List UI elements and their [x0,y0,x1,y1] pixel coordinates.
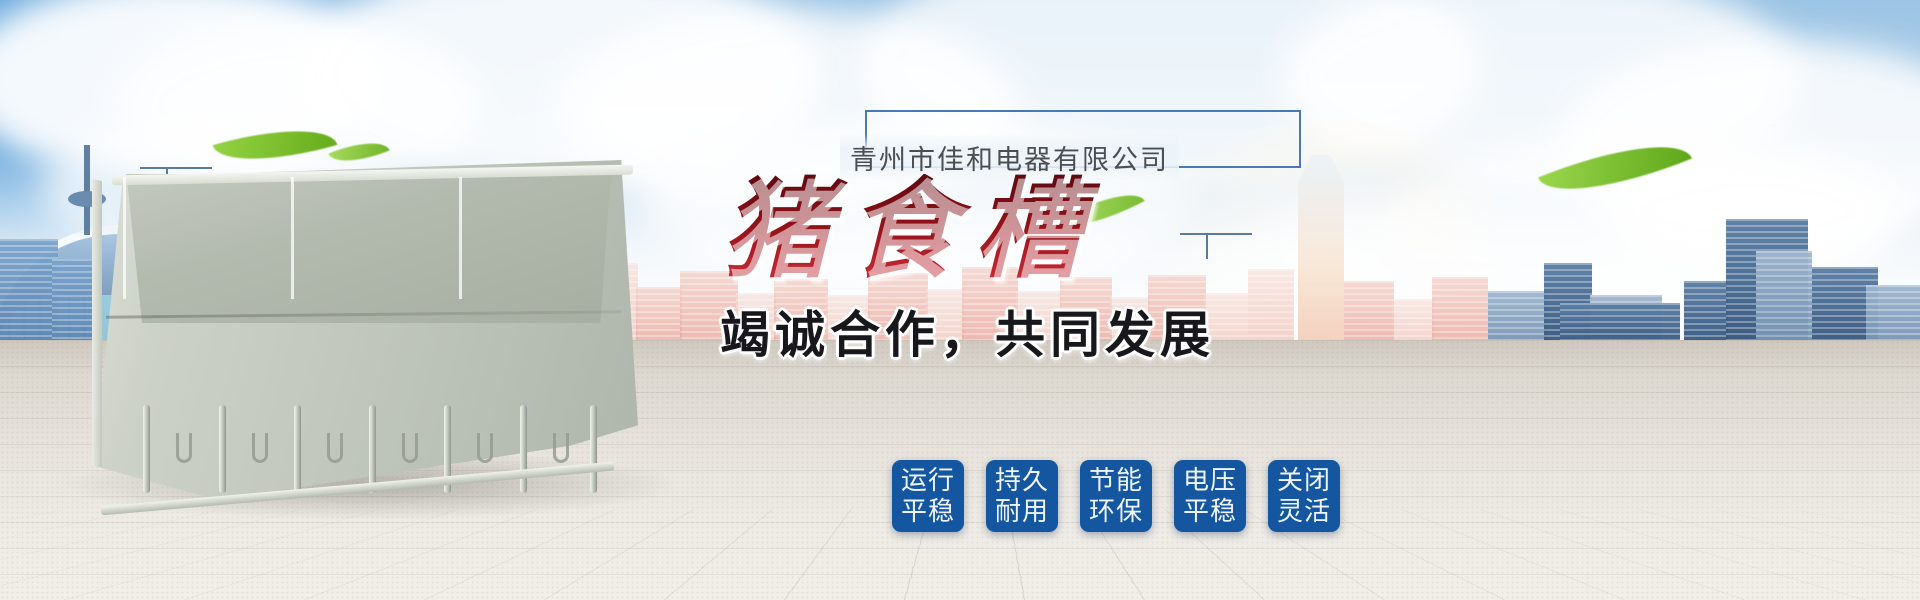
badge-line-2: 耐用 [995,496,1049,527]
feed-loop [252,433,268,463]
badge-line-1: 运行 [901,465,955,496]
feature-badge-1[interactable]: 运行 平稳 [892,460,964,532]
divider-bar [294,405,301,493]
badge-line-2: 环保 [1089,496,1143,527]
trough-inner-wall [100,174,621,324]
feature-badge-list: 运行 平稳 持久 耐用 节能 环保 电压 平稳 关闭 灵活 [892,460,1340,532]
feature-badge-4[interactable]: 电压 平稳 [1174,460,1246,532]
feed-loop [477,433,493,463]
feed-loop [327,433,343,463]
badge-line-1: 节能 [1089,465,1143,496]
trough-seam [123,177,126,299]
divider-bar [369,405,376,493]
trough-seam [459,177,462,299]
badge-line-1: 电压 [1183,465,1237,496]
feature-badge-5[interactable]: 关闭 灵活 [1268,460,1340,532]
building [0,239,58,355]
badge-line-2: 平稳 [1183,496,1237,527]
divider-bar [590,405,597,493]
badge-line-1: 关闭 [1277,465,1331,496]
product-image-pig-feeding-trough [78,160,638,500]
subtitle: 竭诚合作，共同发展 [720,295,1510,367]
trough-seam [291,177,294,299]
feed-loop [553,433,569,463]
divider-bar [143,405,150,493]
divider-bar [520,405,527,493]
divider-bar [219,405,226,493]
badge-line-2: 平稳 [901,496,955,527]
feature-badge-3[interactable]: 节能 环保 [1080,460,1152,532]
page-title: 猪食槽 [722,174,1510,291]
headline-block: 青州市佳和电器有限公司 猪食槽 竭诚合作，共同发展 [690,110,1510,367]
feed-loop [176,433,192,463]
badge-line-1: 持久 [995,465,1049,496]
badge-line-2: 灵活 [1277,496,1331,527]
feature-badge-2[interactable]: 持久 耐用 [986,460,1058,532]
feed-loop [402,433,418,463]
trough-divider-bars [134,405,604,493]
trough-left-edge [92,180,102,467]
promo-banner: 青州市佳和电器有限公司 猪食槽 竭诚合作，共同发展 运行 平稳 持久 耐用 节能… [0,0,1920,600]
